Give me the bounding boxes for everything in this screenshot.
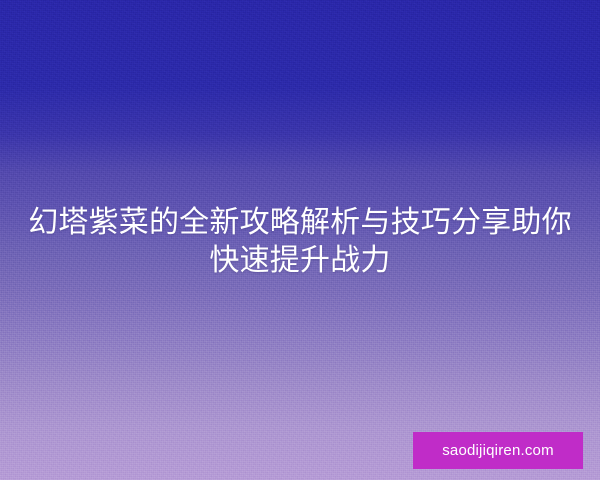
cover-image-canvas: 幻塔紫菜的全新攻略解析与技巧分享助你 快速提升战力 saodijiqiren.c… — [0, 0, 600, 480]
page-title: 幻塔紫菜的全新攻略解析与技巧分享助你 快速提升战力 — [0, 204, 600, 280]
watermark-label: saodijiqiren.com — [442, 443, 554, 458]
page-title-line-2: 快速提升战力 — [18, 242, 582, 280]
watermark-badge: saodijiqiren.com — [413, 432, 583, 469]
page-title-line-1: 幻塔紫菜的全新攻略解析与技巧分享助你 — [18, 204, 582, 242]
